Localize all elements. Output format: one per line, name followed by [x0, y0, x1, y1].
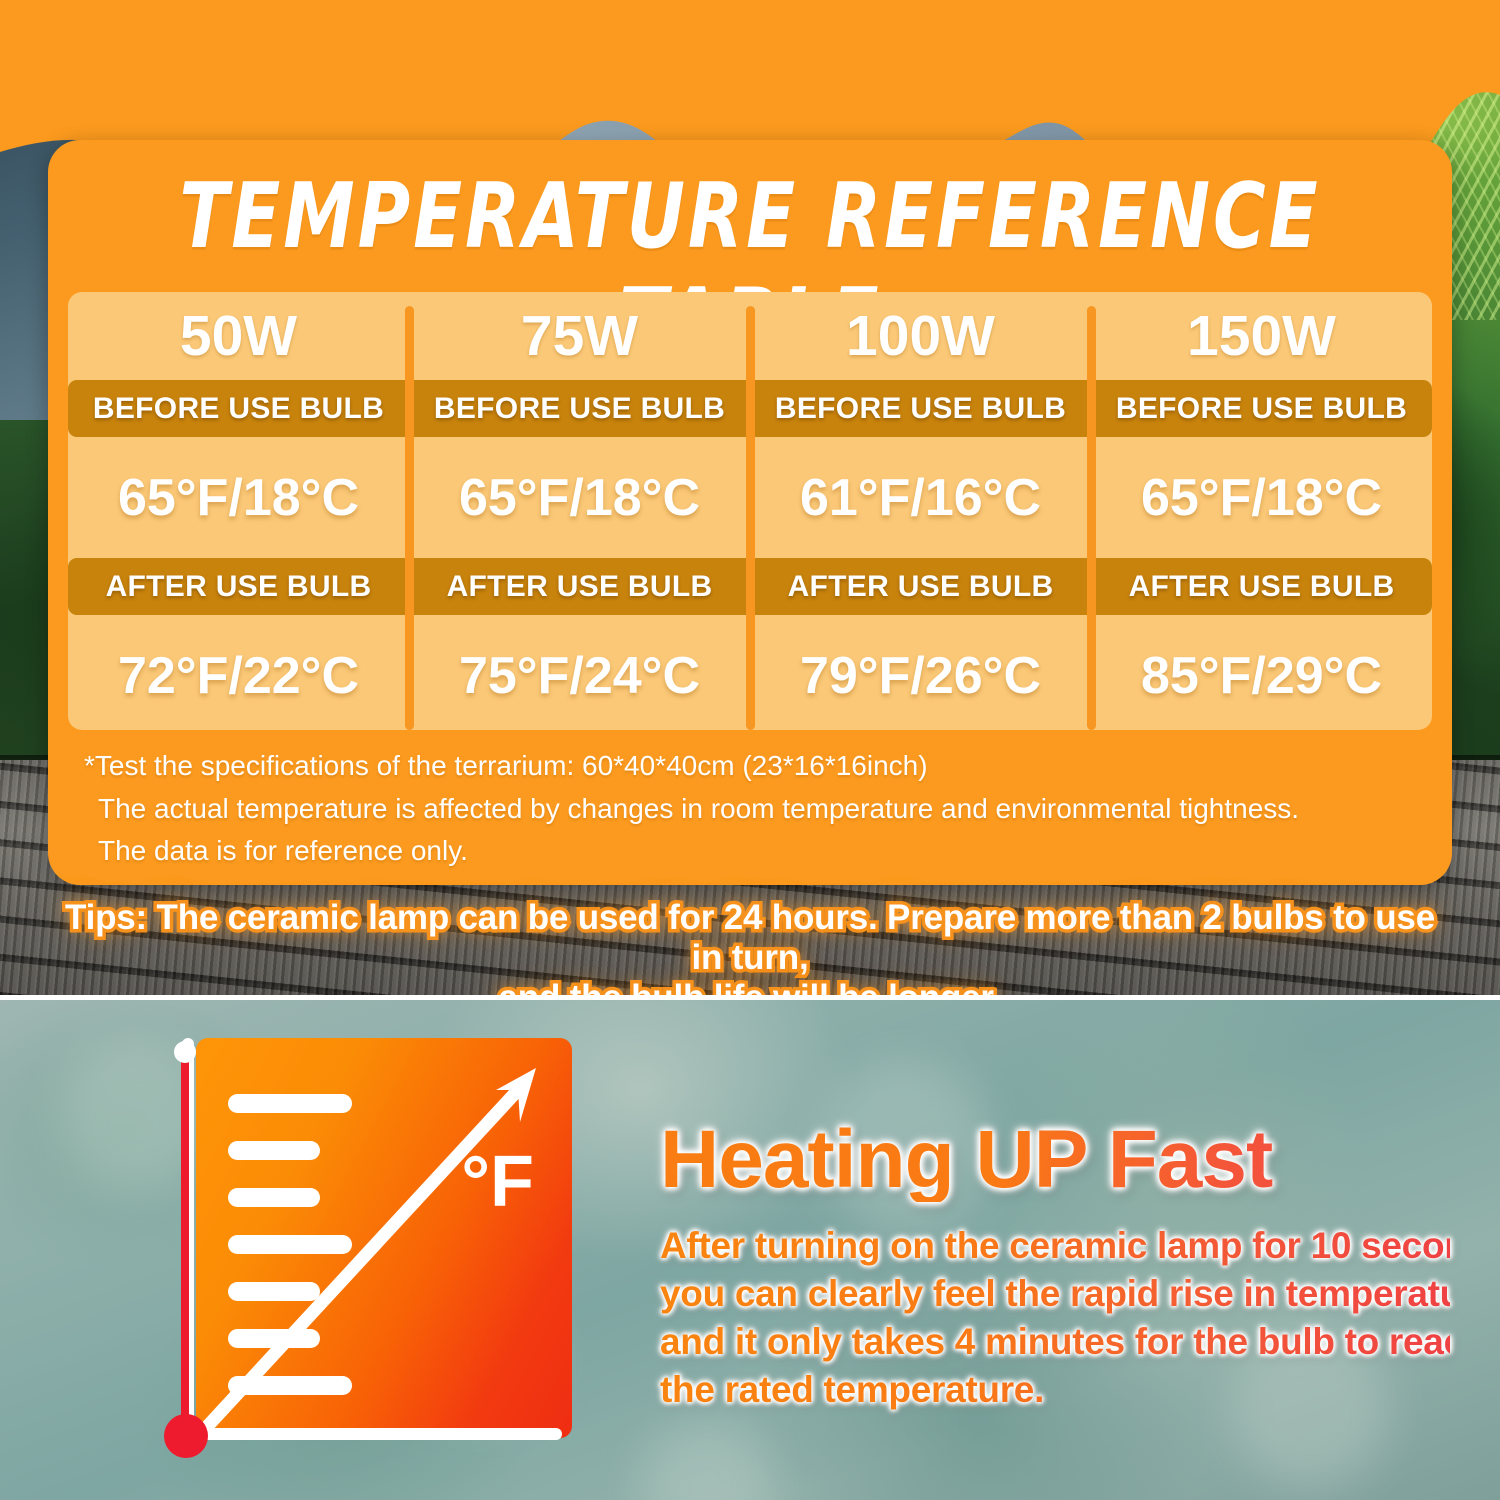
- after-use-label: AFTER USE BULB: [1091, 558, 1432, 615]
- fahrenheit-unit-label: °F: [461, 1146, 534, 1218]
- table-column-75w: 75W BEFORE USE BULB 65°F/18°C AFTER USE …: [409, 292, 750, 730]
- footnote-block: *Test the specifications of the terrariu…: [84, 745, 1424, 873]
- wattage-label: 100W: [750, 292, 1091, 380]
- body-line: the rated temperature.: [660, 1366, 1450, 1414]
- temperature-table: 50W BEFORE USE BULB 65°F/18°C AFTER USE …: [68, 292, 1432, 730]
- chart-x-axis: [184, 1428, 562, 1440]
- wattage-label: 50W: [68, 292, 409, 380]
- table-column-50w: 50W BEFORE USE BULB 65°F/18°C AFTER USE …: [68, 292, 409, 730]
- wattage-label: 75W: [409, 292, 750, 380]
- after-use-temperature: 75°F/24°C: [409, 615, 750, 736]
- footnote-line: The actual temperature is affected by ch…: [84, 788, 1424, 831]
- before-use-temperature: 65°F/18°C: [409, 437, 750, 558]
- before-use-temperature: 65°F/18°C: [1091, 437, 1432, 558]
- column-divider: [1087, 306, 1096, 730]
- footnote-line: The data is for reference only.: [84, 830, 1424, 873]
- body-line: and it only takes 4 minutes for the bulb…: [660, 1318, 1450, 1366]
- before-use-label: BEFORE USE BULB: [750, 380, 1091, 437]
- bokeh-blur: [640, 1420, 770, 1500]
- thermometer-mercury-line: [181, 1046, 189, 1444]
- column-divider: [405, 306, 414, 730]
- infographic-page: TEMPERATURE REFERENCE TABLE 50W BEFORE U…: [0, 0, 1500, 1500]
- footnote-line: *Test the specifications of the terrariu…: [84, 745, 1424, 788]
- after-use-label: AFTER USE BULB: [68, 558, 409, 615]
- before-use-label: BEFORE USE BULB: [409, 380, 750, 437]
- thermometer-top-cap: [174, 1041, 196, 1063]
- after-use-temperature: 85°F/29°C: [1091, 615, 1432, 736]
- body-line: After turning on the ceramic lamp for 10…: [660, 1222, 1450, 1270]
- after-use-temperature: 79°F/26°C: [750, 615, 1091, 736]
- before-use-label: BEFORE USE BULB: [1091, 380, 1432, 437]
- after-use-label: AFTER USE BULB: [409, 558, 750, 615]
- before-use-temperature: 65°F/18°C: [68, 437, 409, 558]
- heating-body-copy: After turning on the ceramic lamp for 10…: [660, 1222, 1450, 1414]
- rising-arrow-icon: [196, 1038, 572, 1438]
- temperature-table-section: TEMPERATURE REFERENCE TABLE 50W BEFORE U…: [0, 0, 1500, 995]
- heating-text-block: Heating UP Fast After turning on the cer…: [660, 1118, 1450, 1414]
- temperature-rise-chart-icon: °F: [168, 1038, 572, 1458]
- before-use-temperature: 61°F/16°C: [750, 437, 1091, 558]
- body-line: you can clearly feel the rapid rise in t…: [660, 1270, 1450, 1318]
- tips-line-2: and the bulb life will be longer.: [50, 978, 1450, 995]
- column-divider: [746, 306, 755, 730]
- temperature-reference-card: TEMPERATURE REFERENCE TABLE 50W BEFORE U…: [48, 140, 1452, 885]
- chart-gradient-square: °F: [196, 1038, 572, 1438]
- heating-headline: Heating UP Fast: [660, 1118, 1450, 1202]
- after-use-temperature: 72°F/22°C: [68, 615, 409, 736]
- wattage-label: 150W: [1091, 292, 1432, 380]
- table-column-100w: 100W BEFORE USE BULB 61°F/16°C AFTER USE…: [750, 292, 1091, 730]
- after-use-label: AFTER USE BULB: [750, 558, 1091, 615]
- thermometer-bulb: [164, 1414, 208, 1458]
- before-use-label: BEFORE USE BULB: [68, 380, 409, 437]
- tips-note: Tips: The ceramic lamp can be used for 2…: [50, 898, 1450, 995]
- tips-line-1: Tips: The ceramic lamp can be used for 2…: [50, 898, 1450, 978]
- table-column-150w: 150W BEFORE USE BULB 65°F/18°C AFTER USE…: [1091, 292, 1432, 730]
